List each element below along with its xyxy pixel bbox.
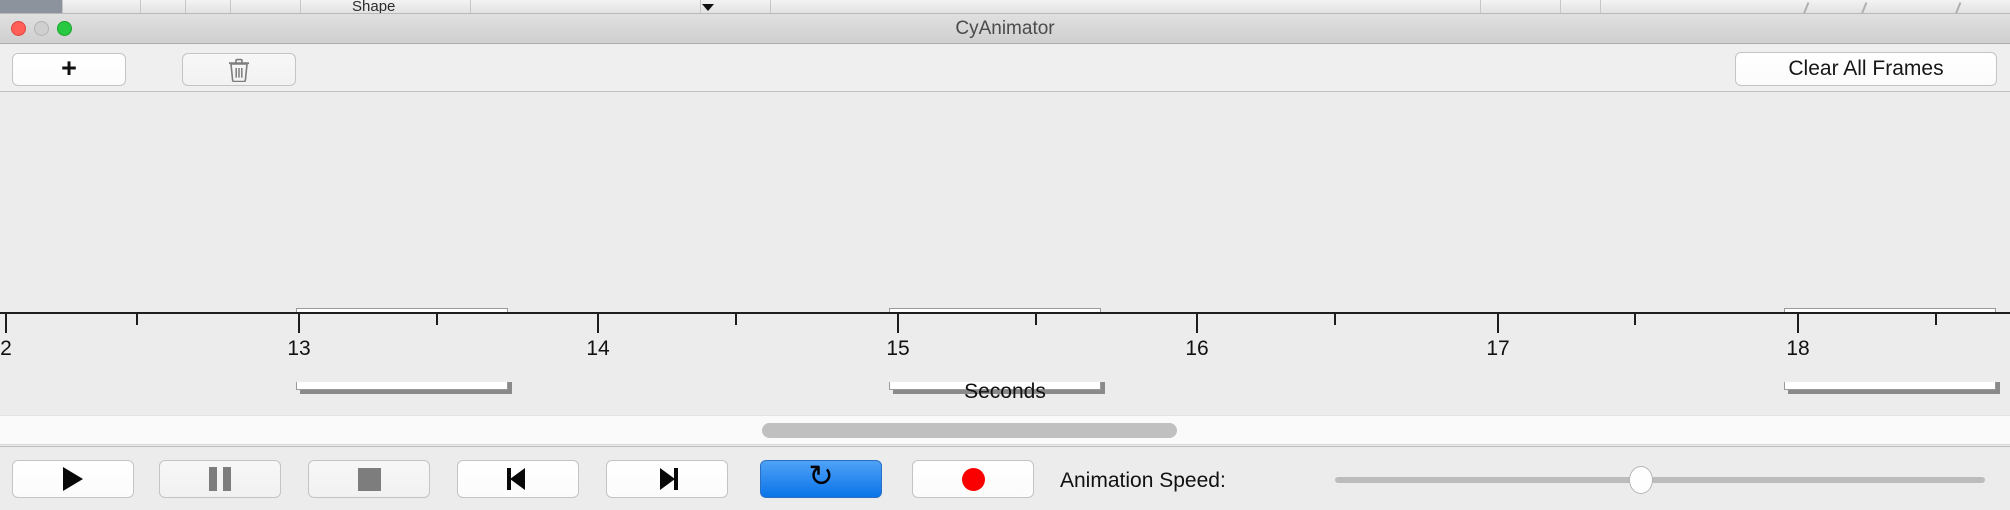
background-window-divider (300, 0, 301, 14)
timeline-canvas[interactable]: MCM1MCM1MCM1 (0, 93, 2010, 312)
clear-all-frames-button[interactable]: Clear All Frames (1735, 52, 1997, 86)
background-window-divider (470, 0, 471, 14)
window-title: CyAnimator (0, 14, 2010, 44)
ruler-tick-major (1497, 314, 1499, 333)
background-window-divider (700, 0, 701, 14)
playback-control-bar: ↻ Animation Speed: (0, 446, 2010, 510)
timeline-scrollbar[interactable] (0, 415, 2010, 445)
ruler-tick-minor (1334, 314, 1336, 325)
trash-icon (228, 58, 250, 82)
ruler-tick-minor (436, 314, 438, 325)
stop-button[interactable] (308, 460, 430, 498)
slider-thumb[interactable] (1629, 466, 1653, 494)
ruler-tick-minor (136, 314, 138, 325)
timeline-scrollbar-thumb[interactable] (762, 423, 1177, 438)
slider-track[interactable] (1335, 477, 1985, 483)
background-window-caret-icon (702, 4, 714, 11)
delete-frame-button[interactable] (182, 53, 296, 86)
background-window-slash-icon (1952, 2, 1964, 14)
background-window-divider (770, 0, 771, 14)
animation-speed-slider[interactable] (1335, 477, 1985, 483)
ruler-tick-label: 15 (886, 337, 909, 361)
background-window-label: Shape (352, 0, 395, 14)
background-window-divider (1480, 0, 1481, 14)
background-window-slash-icon (1800, 2, 1812, 14)
ruler-tick-major (597, 314, 599, 333)
loop-icon: ↻ (808, 462, 833, 492)
pause-icon (209, 467, 231, 491)
timeline-ruler: 2131415161718 (0, 312, 2010, 382)
skip-end-button[interactable] (606, 460, 728, 498)
ruler-tick-minor (1634, 314, 1636, 325)
ruler-tick-major (1196, 314, 1198, 333)
plus-icon: + (61, 55, 77, 82)
record-button[interactable] (912, 460, 1034, 498)
background-window-slash-icon (1858, 2, 1870, 14)
ruler-tick-label: 18 (1786, 337, 1809, 361)
add-frame-button[interactable]: + (12, 53, 126, 86)
animation-speed-label: Animation Speed: (1060, 469, 1226, 493)
pause-button[interactable] (159, 460, 281, 498)
ruler-tick-label: 13 (287, 337, 310, 361)
background-window-divider (185, 0, 186, 14)
ruler-baseline (0, 312, 2010, 314)
ruler-tick-major (5, 314, 7, 333)
background-window-divider (1600, 0, 1601, 14)
ruler-tick-label: 14 (586, 337, 609, 361)
ruler-tick-label: 17 (1486, 337, 1509, 361)
background-window-dark-tab (0, 0, 62, 14)
background-window-divider (230, 0, 231, 14)
ruler-tick-label: 2 (0, 337, 12, 361)
play-button[interactable] (12, 460, 134, 498)
stop-icon (358, 468, 381, 491)
record-icon (962, 468, 985, 491)
ruler-tick-minor (1035, 314, 1037, 325)
background-window-strip: Shape (0, 0, 2010, 14)
ruler-tick-major (1797, 314, 1799, 333)
skip-end-icon (656, 468, 678, 490)
play-icon (63, 467, 83, 491)
frame-toolbar: + Clear All Frames (0, 45, 2010, 92)
background-window-divider (62, 0, 63, 14)
background-window-divider (140, 0, 141, 14)
ruler-tick-label: 16 (1185, 337, 1208, 361)
skip-start-icon (507, 468, 529, 490)
ruler-tick-major (897, 314, 899, 333)
skip-start-button[interactable] (457, 460, 579, 498)
window-titlebar: CyAnimator (0, 14, 2010, 44)
loop-button[interactable]: ↻ (760, 460, 882, 498)
ruler-tick-minor (735, 314, 737, 325)
ruler-tick-minor (1935, 314, 1937, 325)
background-window-divider (1560, 0, 1561, 14)
ruler-tick-major (298, 314, 300, 333)
axis-title-seconds: Seconds (0, 380, 2010, 404)
